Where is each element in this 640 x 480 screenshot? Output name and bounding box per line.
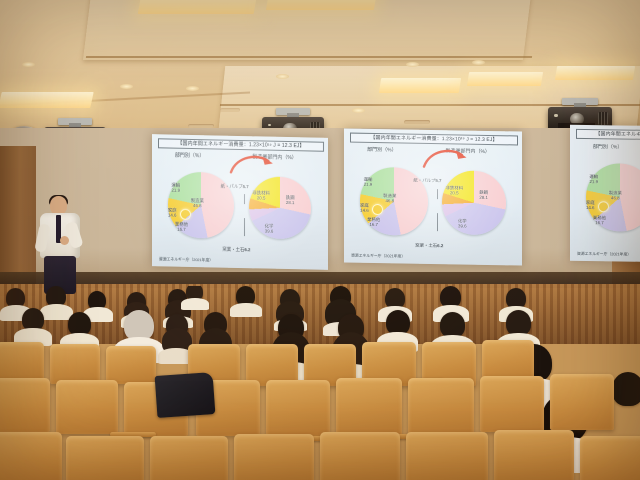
zoom-arrow-icon <box>222 153 282 177</box>
seat[interactable] <box>0 378 50 432</box>
slide-title: 【国内年間エネルギー消費量：1.23×10¹⁹ J = 12.3 EJ】 <box>350 133 518 146</box>
projection-screen-right[interactable]: 【国内年間エネルギー消費量：1.23×10¹⁹ J = 12.3 EJ】 部門別… <box>570 125 640 263</box>
slide-source-note: 資源エネルギー庁（2021年度） <box>577 252 631 258</box>
pie-chart-manufacturing <box>442 170 506 235</box>
slide-subtitle-left: 部門別（%） <box>593 143 622 150</box>
projection-screen-center[interactable]: 【国内年間エネルギー消費量：1.23×10¹⁹ J = 12.3 EJ】 部門別… <box>344 128 522 265</box>
seat[interactable] <box>580 436 640 480</box>
slide-title: 【国内年間エネルギー消費量：1.23×10¹⁹ J = 12.3 EJ】 <box>158 138 324 151</box>
seat[interactable] <box>494 430 574 480</box>
pie-chart-manufacturing <box>249 176 311 239</box>
slide-source-note: 資源エネルギー庁（2021年度） <box>159 257 213 263</box>
slide-source-note: 資源エネルギー庁（2021年度） <box>351 254 405 260</box>
lecture-hall-photo: 【国内年間エネルギー消費量：1.23×10¹⁹ J = 12.3 EJ】 部門別… <box>0 0 640 480</box>
seat[interactable] <box>234 434 314 480</box>
audience-seating <box>0 286 640 480</box>
slide-left: 【国内年間エネルギー消費量：1.23×10¹⁹ J = 12.3 EJ】 部門別… <box>152 134 328 270</box>
presenter-hand <box>60 236 69 245</box>
zoom-arrow-icon <box>415 147 476 171</box>
seat[interactable] <box>56 380 118 434</box>
slide-right: 【国内年間エネルギー消費量：1.23×10¹⁹ J = 12.3 EJ】 部門別… <box>570 125 640 263</box>
seat[interactable] <box>0 342 44 382</box>
presenter <box>36 196 86 292</box>
seat[interactable] <box>320 432 400 480</box>
seat[interactable] <box>480 376 544 432</box>
draped-coat <box>155 372 216 418</box>
slide-center: 【国内年間エネルギー消費量：1.23×10¹⁹ J = 12.3 EJ】 部門別… <box>344 128 522 265</box>
seat[interactable] <box>406 432 488 480</box>
seat[interactable] <box>336 378 402 436</box>
seat[interactable] <box>408 378 474 436</box>
projection-screen-left[interactable]: 【国内年間エネルギー消費量：1.23×10¹⁹ J = 12.3 EJ】 部門別… <box>152 134 328 270</box>
slide-subtitle-left: 部門別（%） <box>175 152 204 160</box>
seat[interactable] <box>50 344 100 384</box>
seat[interactable] <box>0 432 62 480</box>
seat[interactable] <box>150 436 228 480</box>
seat[interactable] <box>266 380 330 436</box>
seat[interactable] <box>550 374 614 430</box>
slide-title: 【国内年間エネルギー消費量：1.23×10¹⁹ J = 12.3 EJ】 <box>576 129 640 141</box>
seat[interactable] <box>66 436 144 480</box>
seat[interactable] <box>106 346 156 384</box>
slide-subtitle-left: 部門別（%） <box>367 146 396 154</box>
